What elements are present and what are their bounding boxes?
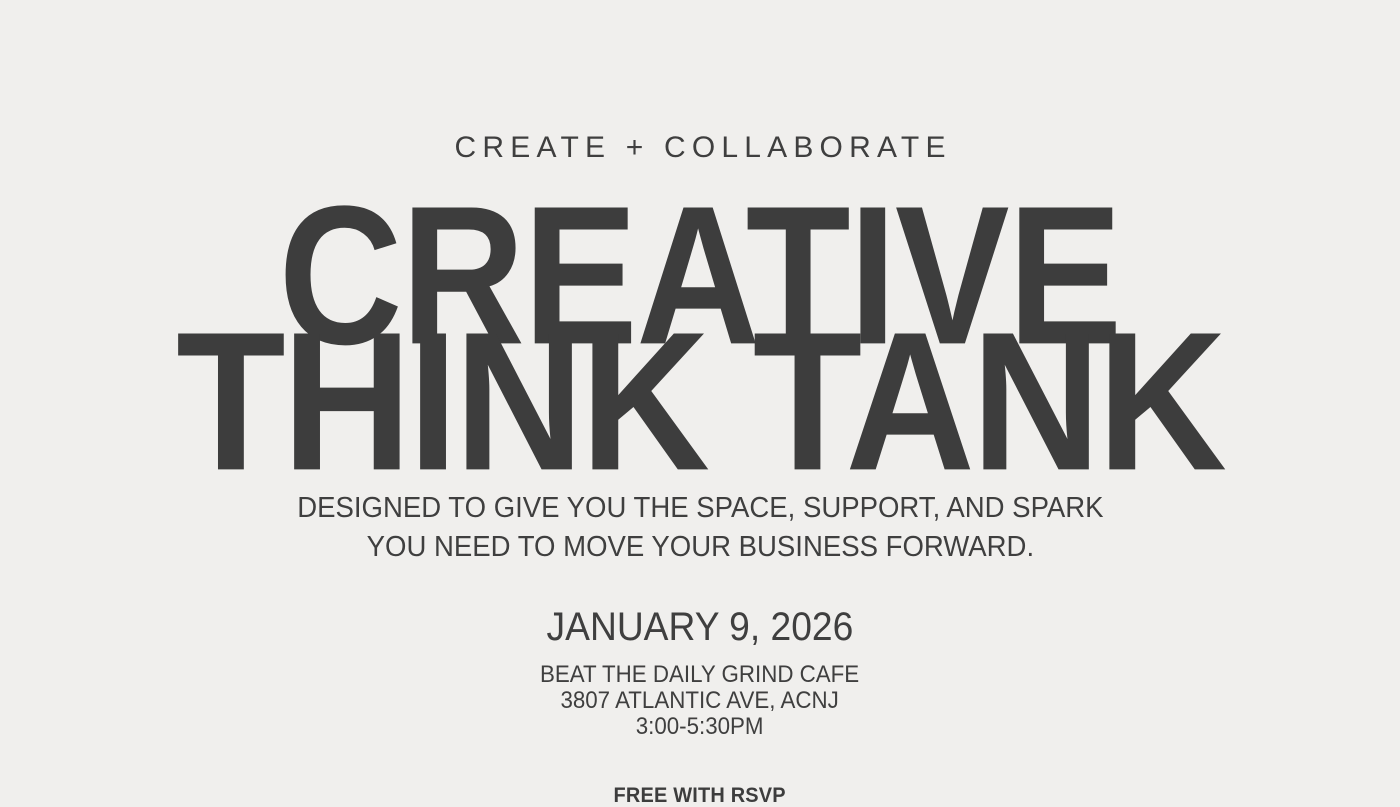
subtitle-line-1: DESIGNED TO GIVE YOU THE SPACE, SUPPORT,… [297, 489, 1103, 528]
venue-name: BEAT THE DAILY GRIND CAFE [540, 662, 859, 688]
poster-kicker: CREATE + COLLABORATE [448, 133, 951, 163]
event-date: JANUARY 9, 2026 [547, 607, 854, 647]
event-venue-block: BEAT THE DAILY GRIND CAFE 3807 ATLANTIC … [540, 662, 859, 740]
rsvp-note: FREE WITH RSVP [614, 785, 786, 806]
event-poster: CREATE + COLLABORATE CREATIVE THINK TANK… [0, 0, 1400, 787]
headline-line-2: THINK TANK [176, 316, 1223, 480]
poster-headline: CREATIVE THINK TANK [256, 190, 1144, 442]
event-time: 3:00-5:30PM [540, 714, 859, 740]
venue-address: 3807 ATLANTIC AVE, ACNJ [540, 688, 859, 714]
event-details: JANUARY 9, 2026 BEAT THE DAILY GRIND CAF… [528, 607, 871, 740]
poster-subtitle: DESIGNED TO GIVE YOU THE SPACE, SUPPORT,… [297, 489, 1103, 568]
subtitle-line-2: YOU NEED TO MOVE YOUR BUSINESS FORWARD. [297, 528, 1103, 567]
